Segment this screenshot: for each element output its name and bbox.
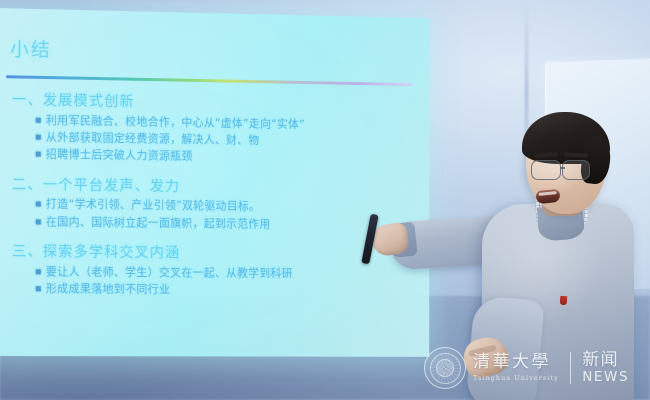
glasses-icon bbox=[531, 160, 561, 180]
slide-title: 小结 bbox=[10, 34, 52, 62]
square-bullet-icon bbox=[36, 287, 41, 292]
section-heading: 三、探索多学科交叉内涵 bbox=[12, 241, 416, 265]
square-bullet-icon bbox=[36, 202, 41, 207]
bullet-list: 打造“学术引领、产业引领”双轮驱动目标。 在国内、国际树立起一面旗帜，起到示范作… bbox=[36, 197, 416, 235]
watermark-university: 清華大學 Tsinghua University bbox=[473, 354, 559, 382]
square-bullet-icon bbox=[36, 152, 41, 157]
slide-section-1: 一、发展模式创新 利用军民融合、校地合作，中心从“虚体”走向“实体” 从外部获取… bbox=[8, 88, 416, 169]
square-bullet-icon bbox=[36, 269, 41, 274]
channel-name-zh: 新闻 bbox=[582, 351, 629, 370]
tsinghua-seal-icon bbox=[424, 347, 466, 389]
glasses-bridge bbox=[560, 167, 565, 169]
bullet-text: 形成成果落地到不同行业 bbox=[46, 282, 170, 299]
university-name-en: Tsinghua University bbox=[473, 374, 559, 382]
seal-spokes bbox=[430, 353, 460, 383]
university-name-zh: 清華大學 bbox=[473, 354, 559, 372]
bullet-text: 打造“学术引领、产业引领”双轮驱动目标。 bbox=[46, 197, 260, 216]
list-item: 在国内、国际树立起一面旗帜，起到示范作用 bbox=[36, 214, 416, 234]
projected-slide: 小结 一、发展模式创新 利用军民融合、校地合作，中心从“虚体”走向“实体” 从外… bbox=[0, 8, 429, 357]
watermark-divider bbox=[570, 352, 571, 384]
sweater-logo-icon bbox=[560, 296, 568, 305]
watermark: 清華大學 Tsinghua University 新闻 NEWS bbox=[424, 342, 646, 394]
bullet-text: 招聘博士后突破人力资源瓶颈 bbox=[46, 147, 193, 166]
glasses-icon bbox=[562, 160, 590, 180]
list-item: 形成成果落地到不同行业 bbox=[36, 282, 416, 301]
bullet-text: 要让人（老师、学生）交叉在一起、从教学到科研 bbox=[46, 264, 293, 282]
square-bullet-icon bbox=[36, 134, 41, 139]
bullet-list: 利用军民融合、校地合作，中心从“虚体”走向“实体” 从外部获取固定经费资源，解决… bbox=[36, 112, 416, 169]
list-item: 要让人（老师、学生）交叉在一起、从教学到科研 bbox=[36, 264, 416, 283]
section-heading: 二、一个平台发声、发力 bbox=[12, 173, 416, 199]
square-bullet-icon bbox=[36, 219, 41, 224]
slide-section-2: 二、一个平台发声、发力 打造“学术引领、产业引领”双轮驱动目标。 在国内、国际树… bbox=[8, 173, 416, 235]
slide-title-band: 小结 bbox=[0, 8, 429, 71]
bullet-list: 要让人（老师、学生）交叉在一起、从教学到科研 形成成果落地到不同行业 bbox=[36, 264, 416, 300]
square-bullet-icon bbox=[36, 117, 41, 122]
lecture-room-scene: 小结 一、发展模式创新 利用军民融合、校地合作，中心从“虚体”走向“实体” 从外… bbox=[0, 0, 650, 400]
slide-body: 一、发展模式创新 利用军民融合、校地合作，中心从“虚体”走向“实体” 从外部获取… bbox=[0, 88, 429, 310]
watermark-channel: 新闻 NEWS bbox=[582, 351, 629, 385]
bullet-text: 在国内、国际树立起一面旗帜，起到示范作用 bbox=[46, 214, 271, 233]
channel-name-en: NEWS bbox=[582, 370, 629, 385]
slide-section-3: 三、探索多学科交叉内涵 要让人（老师、学生）交叉在一起、从教学到科研 形成成果落… bbox=[8, 241, 416, 301]
